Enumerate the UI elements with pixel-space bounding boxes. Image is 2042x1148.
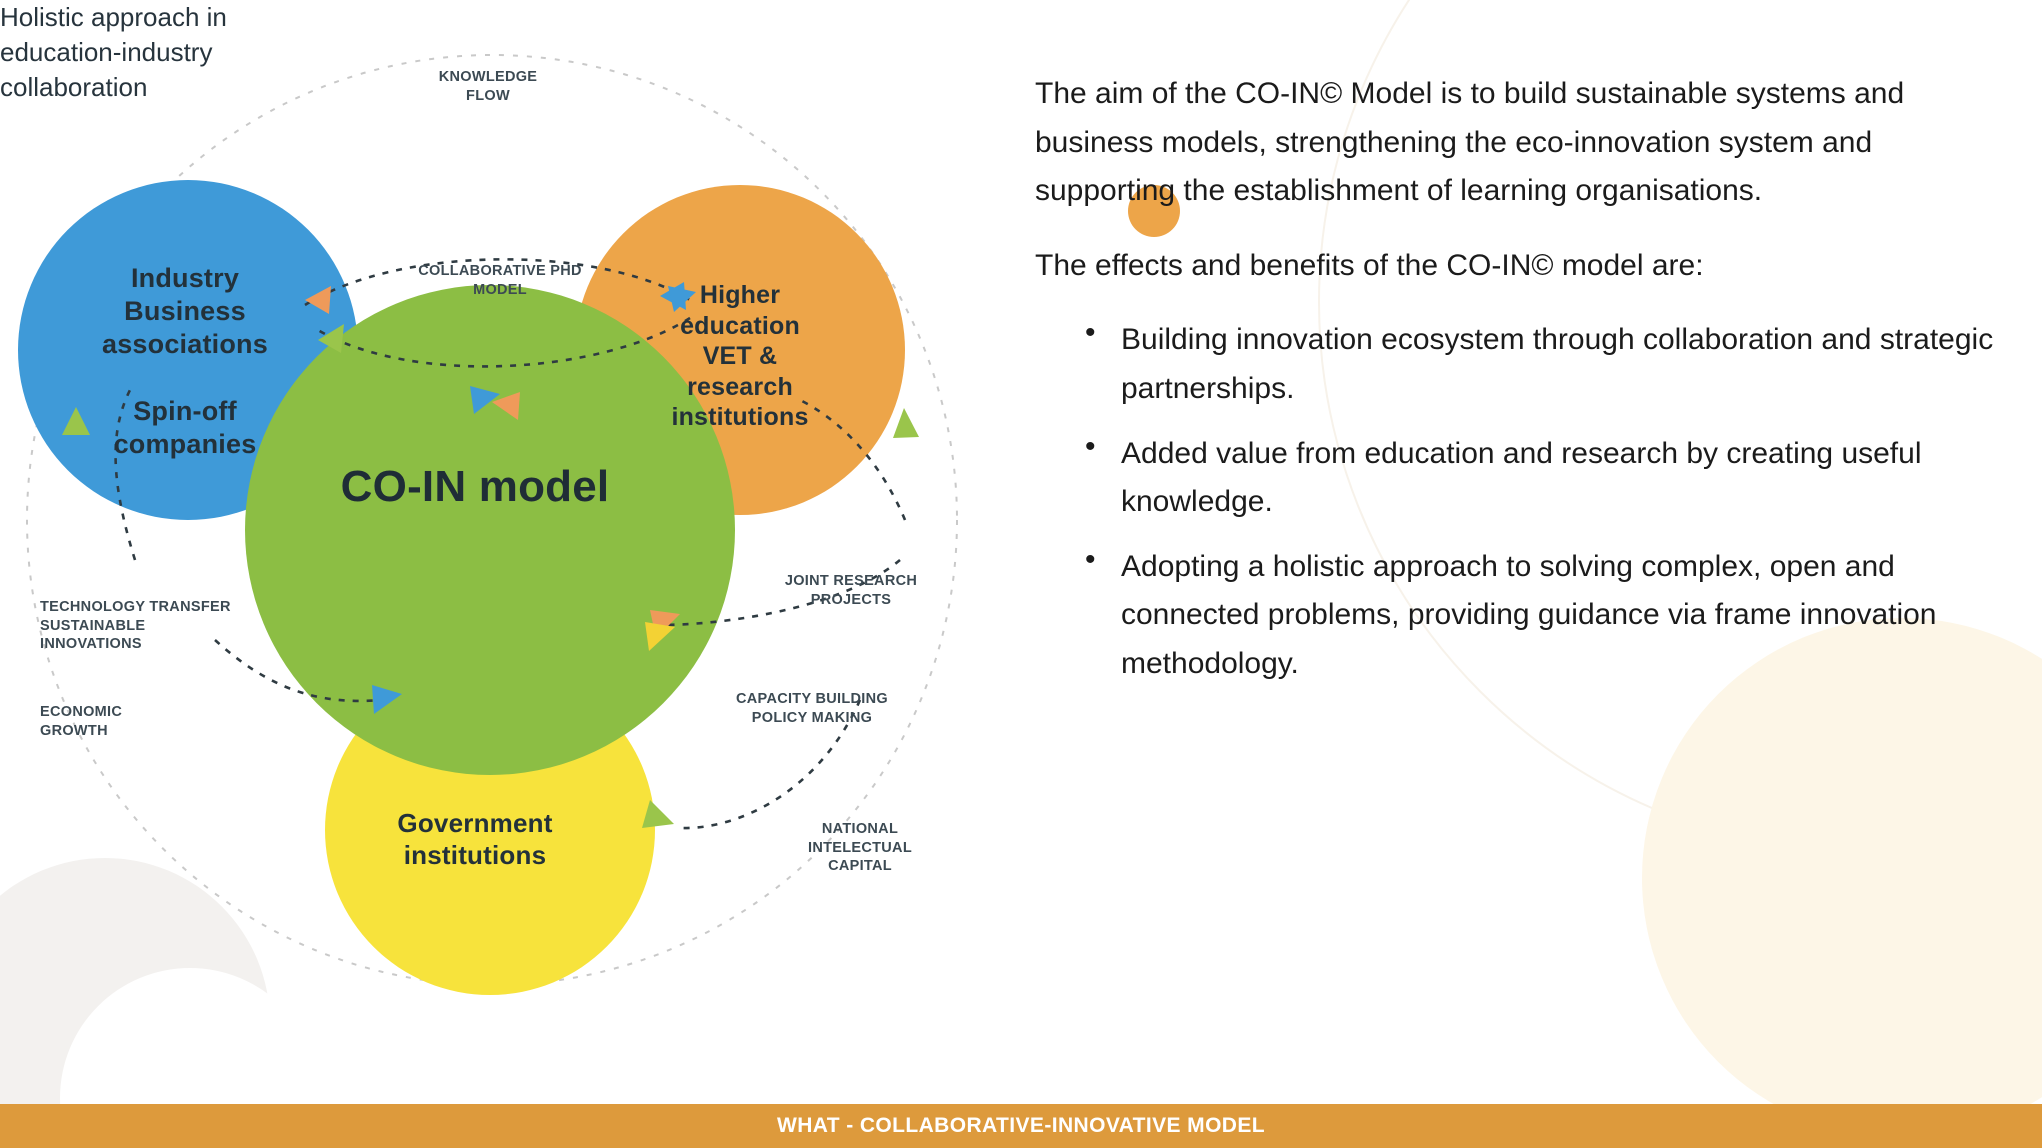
flow-label-collaborative-phd: COLLABORATIVE PHDMODEL (390, 262, 610, 299)
circle-label-government: Government institutions (310, 808, 640, 871)
flow-label-joint-research: JOINT RESEARCHPROJECTS (756, 572, 946, 609)
slide-root: Industry Business associations Spin-off … (0, 0, 2042, 1148)
flow-label-capacity-building: CAPACITY BUILDINGPOLICY MAKING (712, 690, 912, 727)
list-item: Adopting a holistic approach to solving … (1121, 543, 2020, 689)
paragraph-aim: The aim of the CO-IN© Model is to build … (1035, 70, 2020, 216)
flow-label-national-capital: NATIONALINTELECTUALCAPITAL (780, 820, 940, 876)
list-item: Building innovation ecosystem through co… (1121, 316, 2020, 413)
flow-label-technology-transfer: TECHNOLOGY TRANSFERSUSTAINABLEINNOVATION… (40, 598, 270, 654)
footer-label: WHAT - COLLABORATIVE-INNOVATIVE MODEL (777, 1114, 1265, 1138)
co-in-model-diagram: Industry Business associations Spin-off … (0, 0, 1020, 1060)
circle-label-higher-education: Higher education VET & research institut… (620, 280, 860, 433)
circle-label-industry: Industry Business associations (30, 262, 340, 361)
diagram-title: CO-IN model (245, 460, 705, 514)
list-item: Added value from education and research … (1121, 430, 2020, 527)
paragraph-effects: The effects and benefits of the CO-IN© m… (1035, 242, 2020, 291)
benefits-list: Building innovation ecosystem through co… (1035, 316, 2020, 688)
slide-footer-bar: WHAT - COLLABORATIVE-INNOVATIVE MODEL (0, 1104, 2042, 1148)
flow-label-economic-growth: ECONOMICGROWTH (40, 703, 220, 740)
flow-label-knowledge-flow: KNOWLEDGEFLOW (398, 68, 578, 105)
content-column: The aim of the CO-IN© Model is to build … (1035, 70, 2020, 705)
circle-label-spinoff: Spin-off companies (30, 395, 340, 461)
